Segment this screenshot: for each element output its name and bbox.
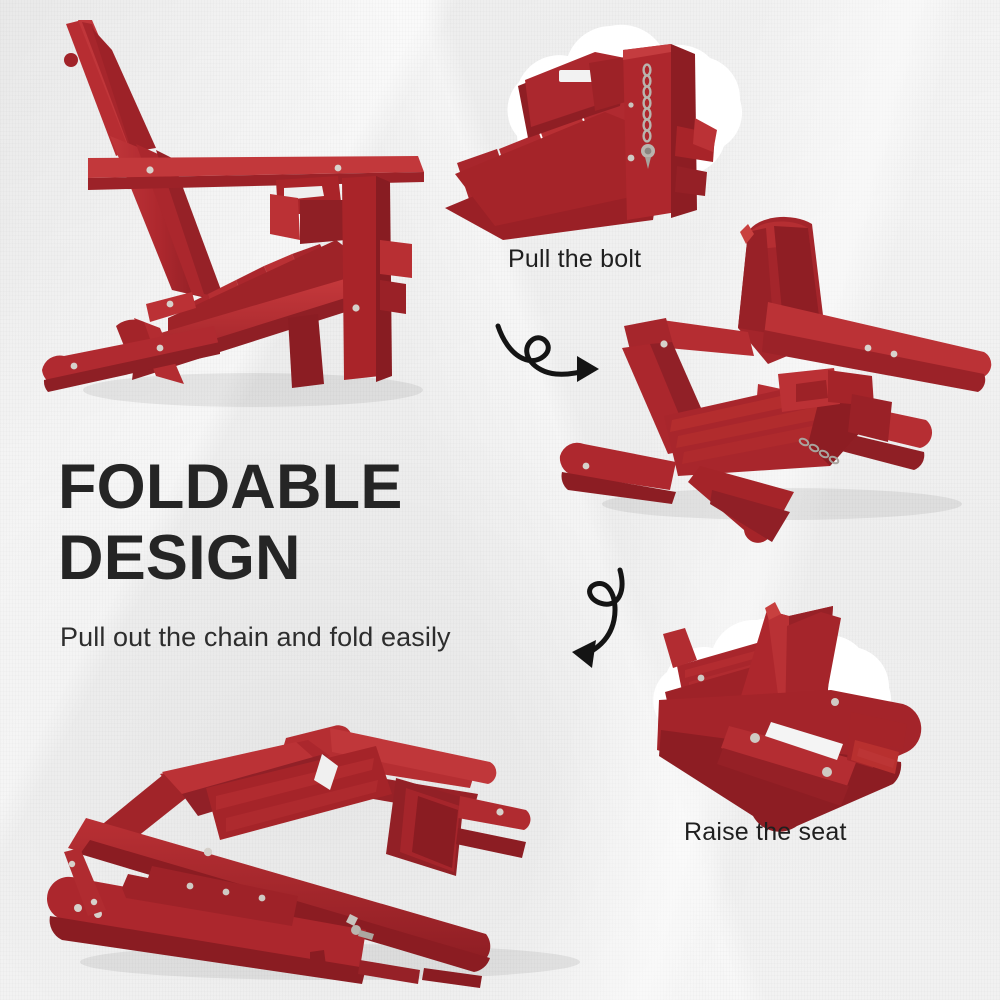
screw-icon — [698, 675, 705, 682]
curly-arrow-icon — [498, 326, 588, 374]
screw-icon — [750, 733, 760, 743]
screw-icon — [167, 301, 174, 308]
screw-icon — [831, 698, 839, 706]
seat-closeup-callout — [615, 600, 965, 815]
curly-arrow-icon — [582, 570, 622, 656]
screw-icon — [204, 848, 212, 856]
screw-icon — [496, 808, 503, 815]
screw-icon — [583, 463, 590, 470]
caption-pull-the-bolt: Pull the bolt — [508, 245, 641, 274]
chair-foot-board — [560, 443, 676, 504]
screw-icon — [71, 363, 78, 370]
screw-icon — [259, 895, 266, 902]
chair-rear-leg — [342, 176, 412, 382]
arrow-head-icon — [577, 356, 599, 382]
screw-icon — [157, 345, 164, 352]
unfolded-chair-image — [38, 18, 458, 418]
folded-chair-image — [30, 700, 610, 990]
infographic-canvas: Pull the bolt — [0, 0, 1000, 1000]
chair-cross-leg — [288, 314, 324, 388]
caption-raise-the-seat: Raise the seat — [684, 818, 847, 847]
page-title: FOLDABLE DESIGN — [58, 452, 403, 593]
arrow-to-step-5 — [552, 568, 662, 683]
screw-icon — [865, 345, 872, 352]
page-subtitle: Pull out the chain and fold easily — [60, 622, 451, 653]
screw-icon — [146, 166, 153, 173]
screw-icon — [335, 165, 342, 172]
screw-icon — [352, 304, 359, 311]
screw-icon — [660, 340, 667, 347]
screw-icon — [223, 889, 230, 896]
screw-icon — [628, 102, 633, 107]
screw-icon — [74, 904, 82, 912]
screw-icon — [628, 155, 635, 162]
arrow-to-step-3 — [482, 300, 612, 400]
arrow-head-icon — [572, 640, 596, 668]
screw-icon — [187, 883, 194, 890]
chair-arm-bracket — [270, 176, 346, 244]
screw-icon — [69, 861, 75, 867]
screw-icon — [91, 899, 97, 905]
screw-icon — [891, 351, 898, 358]
bolt-closeup-callout — [455, 8, 785, 223]
screw-icon — [822, 767, 832, 777]
chair-backrest — [64, 20, 156, 156]
